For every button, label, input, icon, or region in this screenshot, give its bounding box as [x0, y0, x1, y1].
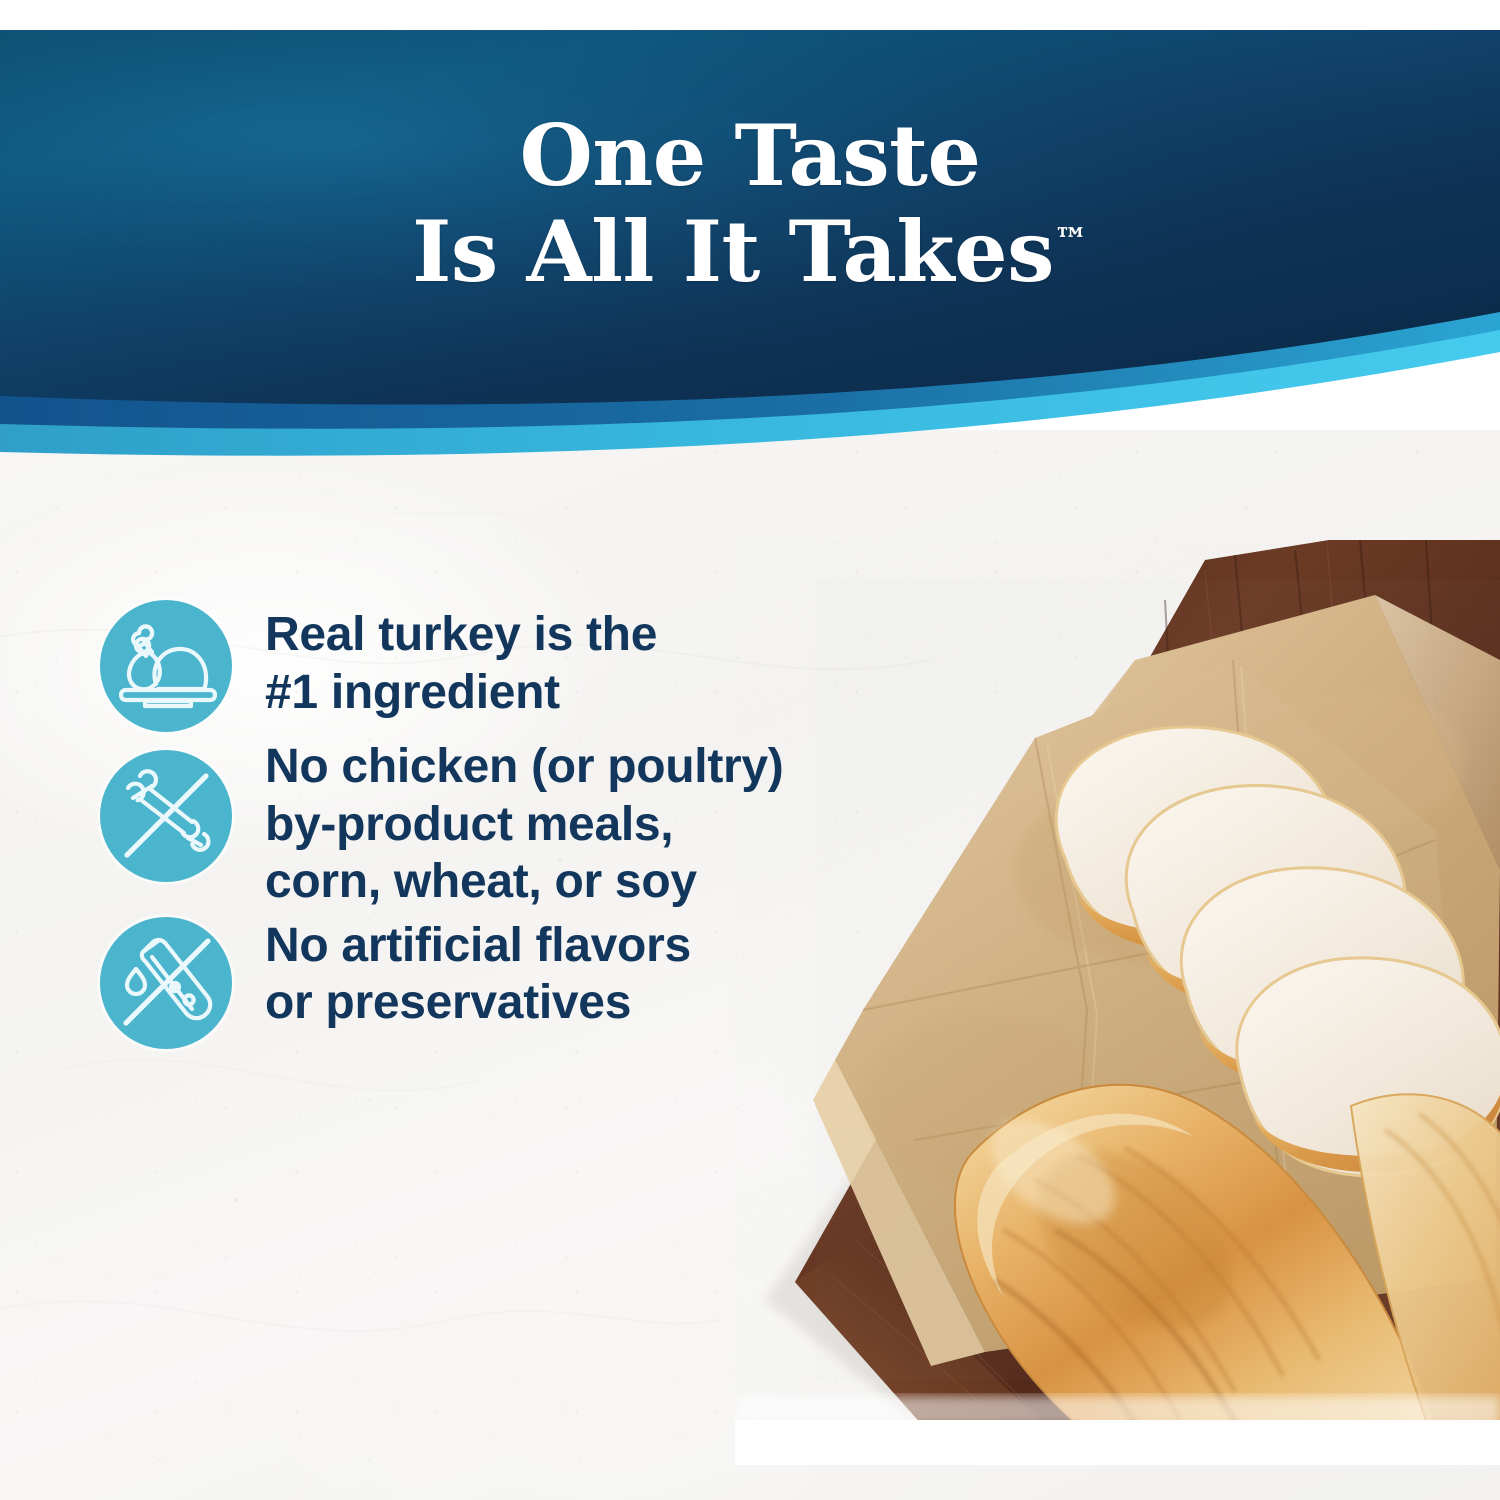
promo-panel: One Taste Is All It Takes™ [0, 0, 1500, 1500]
benefit-text-real-turkey: Real turkey is the #1 ingredient [265, 600, 657, 721]
benefit-line: by-product meals, [265, 796, 783, 854]
headline-line-1: One Taste [520, 106, 981, 205]
benefits-list: Real turkey is the #1 ingredient [100, 600, 890, 1049]
benefit-item-no-byproduct: No chicken (or poultry) by-product meals… [100, 732, 890, 911]
no-test-tube-crossed-out-icon [100, 917, 232, 1049]
benefit-line: No chicken (or poultry) [265, 738, 783, 796]
benefit-text-no-byproduct: No chicken (or poultry) by-product meals… [265, 732, 783, 911]
benefit-item-real-turkey: Real turkey is the #1 ingredient [100, 600, 890, 732]
trademark-symbol: ™ [1054, 221, 1088, 261]
headline-line-2: Is All It Takes™ [0, 204, 1500, 300]
benefit-line: No artificial flavors [265, 917, 691, 975]
header-banner: One Taste Is All It Takes™ [0, 0, 1500, 500]
benefit-text-no-artificial: No artificial flavors or preservatives [265, 911, 691, 1032]
benefit-line: or preservatives [265, 974, 691, 1032]
benefit-item-no-artificial: No artificial flavors or preservatives [100, 911, 890, 1049]
roast-turkey-on-platter-icon [100, 600, 232, 732]
benefit-line: Real turkey is the [265, 606, 657, 664]
no-bone-crossed-out-icon [100, 750, 232, 882]
benefit-line: #1 ingredient [265, 664, 657, 722]
headline: One Taste Is All It Takes™ [0, 108, 1500, 300]
benefit-line: corn, wheat, or soy [265, 853, 783, 911]
